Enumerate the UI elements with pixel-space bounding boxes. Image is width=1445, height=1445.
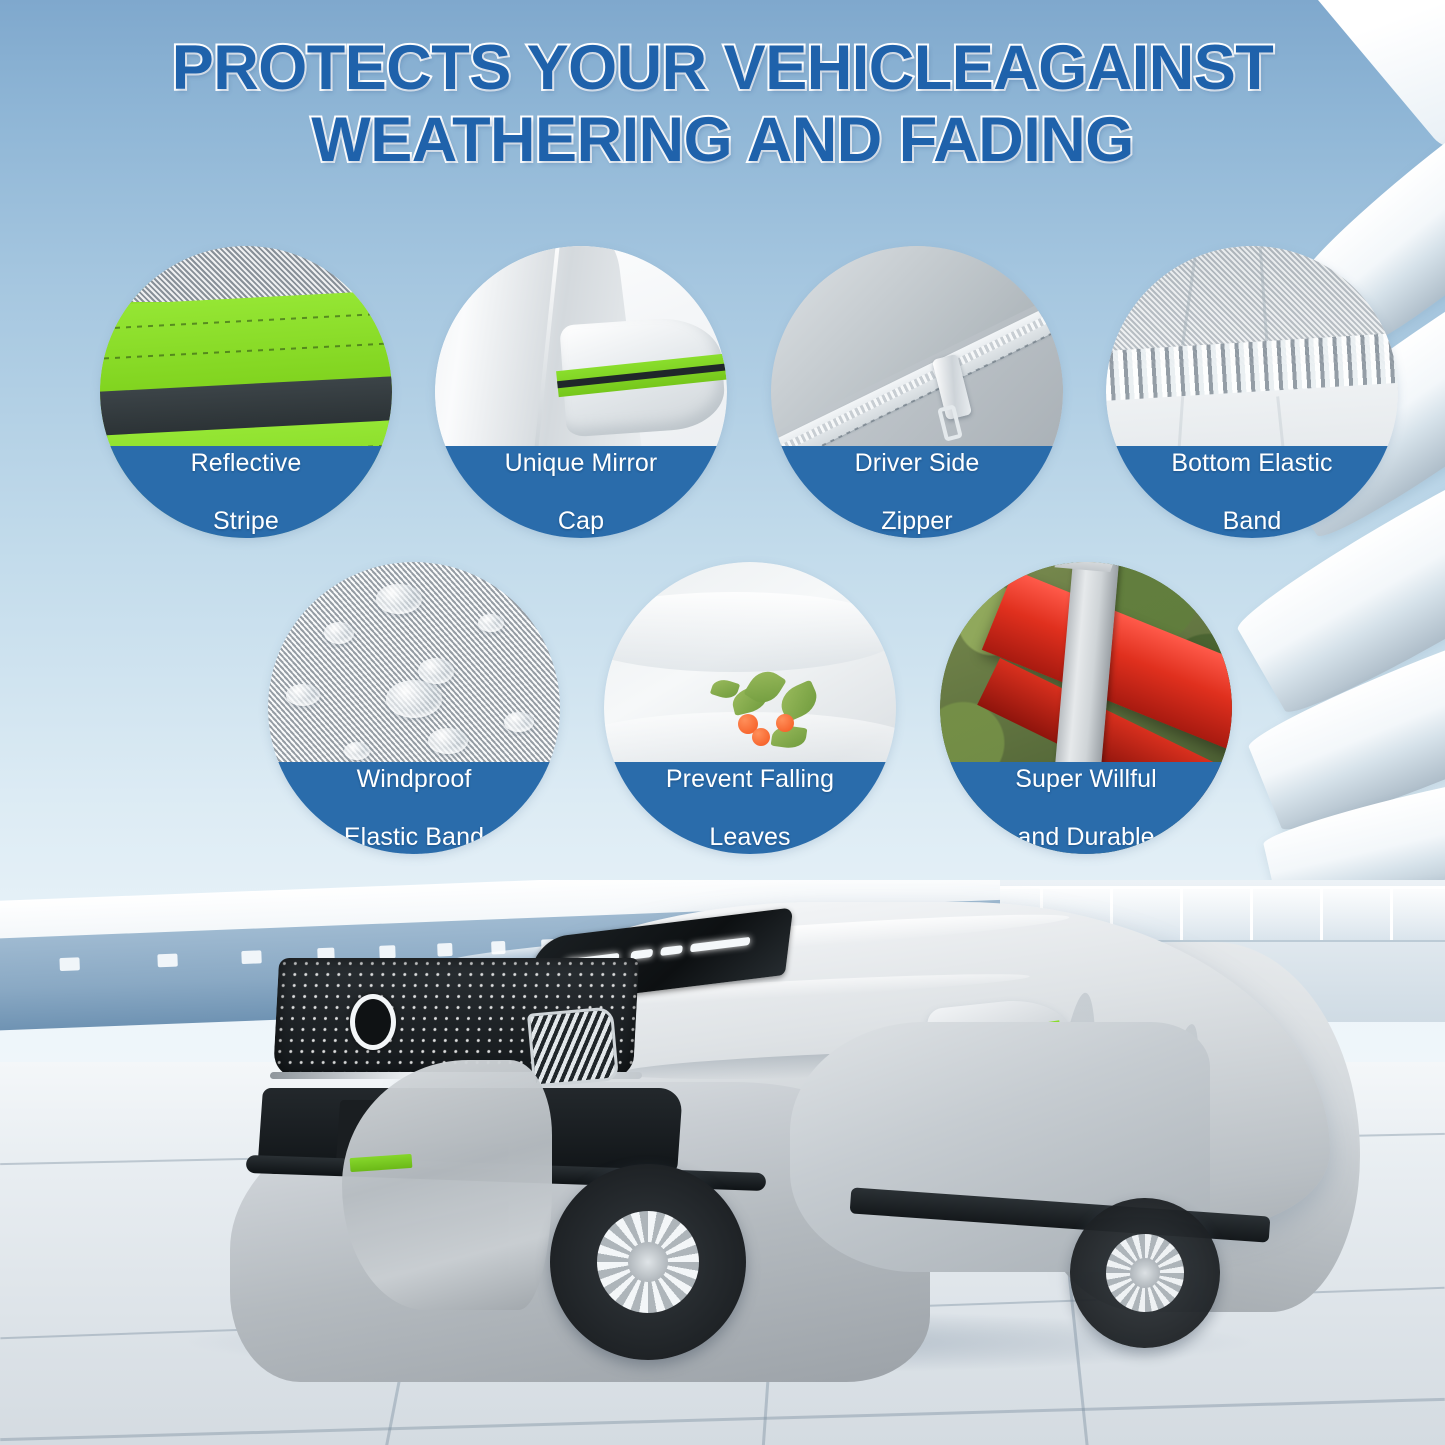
feature-card-bottom-elastic-band[interactable]: Bottom Elastic Band: [1106, 246, 1398, 538]
feature-label-line-1: Bottom Elastic: [1163, 449, 1340, 478]
berry: [752, 728, 770, 746]
berry: [776, 714, 794, 732]
feature-card-driver-side-zipper[interactable]: Driver Side Zipper: [771, 246, 1063, 538]
front-wheel: [550, 1164, 746, 1360]
hero-scene: [0, 880, 1445, 1445]
feature-label-band: Driver Side Zipper: [771, 446, 1063, 538]
water-droplet: [428, 728, 468, 754]
feature-label-band: Super Willful and Durable: [940, 762, 1232, 854]
feature-label-band: Bottom Elastic Band: [1106, 446, 1398, 538]
water-droplet: [504, 712, 534, 732]
water-droplet: [376, 584, 422, 614]
feature-card-super-willful-and-durable[interactable]: Super Willful and Durable: [940, 562, 1232, 854]
fabric-wave-1: [604, 592, 896, 672]
feature-label-band: Unique Mirror Cap: [435, 446, 727, 538]
water-droplet: [324, 622, 354, 644]
water-droplet: [286, 684, 320, 706]
feature-label-line-2: Leaves: [658, 823, 842, 852]
headline: PROTECTS YOUR VEHICLEAGAINST WEATHERING …: [0, 38, 1445, 171]
covered-car: [150, 902, 1330, 1382]
feature-label-band: Prevent Falling Leaves: [604, 762, 896, 854]
feature-card-reflective-stripe[interactable]: Reflective Stripe: [100, 246, 392, 538]
cover-front-green-stripe: [350, 1154, 413, 1172]
mirror-pocket: [559, 315, 726, 438]
water-droplet: [344, 742, 370, 760]
brand-emblem: [350, 994, 396, 1050]
feature-label-line-2: Cap: [497, 507, 666, 536]
feature-label-band: Reflective Stripe: [100, 446, 392, 538]
feature-card-windproof-elastic-band[interactable]: Windproof Elastic Band: [268, 562, 560, 854]
water-droplet: [386, 680, 442, 718]
feature-label-line-2: Band: [1163, 507, 1340, 536]
product-feature-image: PROTECTS YOUR VEHICLEAGAINST WEATHERING …: [0, 0, 1445, 1445]
feature-label-line-2: Elastic Band: [336, 823, 492, 852]
rear-wheel: [1070, 1198, 1220, 1348]
feature-label-line-1: Windproof: [336, 765, 492, 794]
feature-card-unique-mirror-cap[interactable]: Unique Mirror Cap: [435, 246, 727, 538]
headline-line-1: PROTECTS YOUR VEHICLEAGAINST: [0, 38, 1445, 98]
feature-label-line-1: Unique Mirror: [497, 449, 666, 478]
headline-line-2: WEATHERING AND FADING: [0, 110, 1445, 170]
feature-label-line-2: Stripe: [183, 507, 310, 536]
feature-card-prevent-falling-leaves[interactable]: Prevent Falling Leaves: [604, 562, 896, 854]
feature-label-line-1: Super Willful: [1007, 765, 1165, 794]
feature-label-line-2: and Durable: [1007, 823, 1165, 852]
feature-label-line-1: Reflective: [183, 449, 310, 478]
feature-label-band: Windproof Elastic Band: [268, 762, 560, 854]
water-droplet: [478, 614, 504, 632]
feature-label-line-1: Prevent Falling: [658, 765, 842, 794]
water-droplet: [418, 658, 454, 684]
feature-label-line-2: Zipper: [847, 507, 988, 536]
lower-air-intake: [527, 1006, 619, 1087]
feature-label-line-1: Driver Side: [847, 449, 988, 478]
